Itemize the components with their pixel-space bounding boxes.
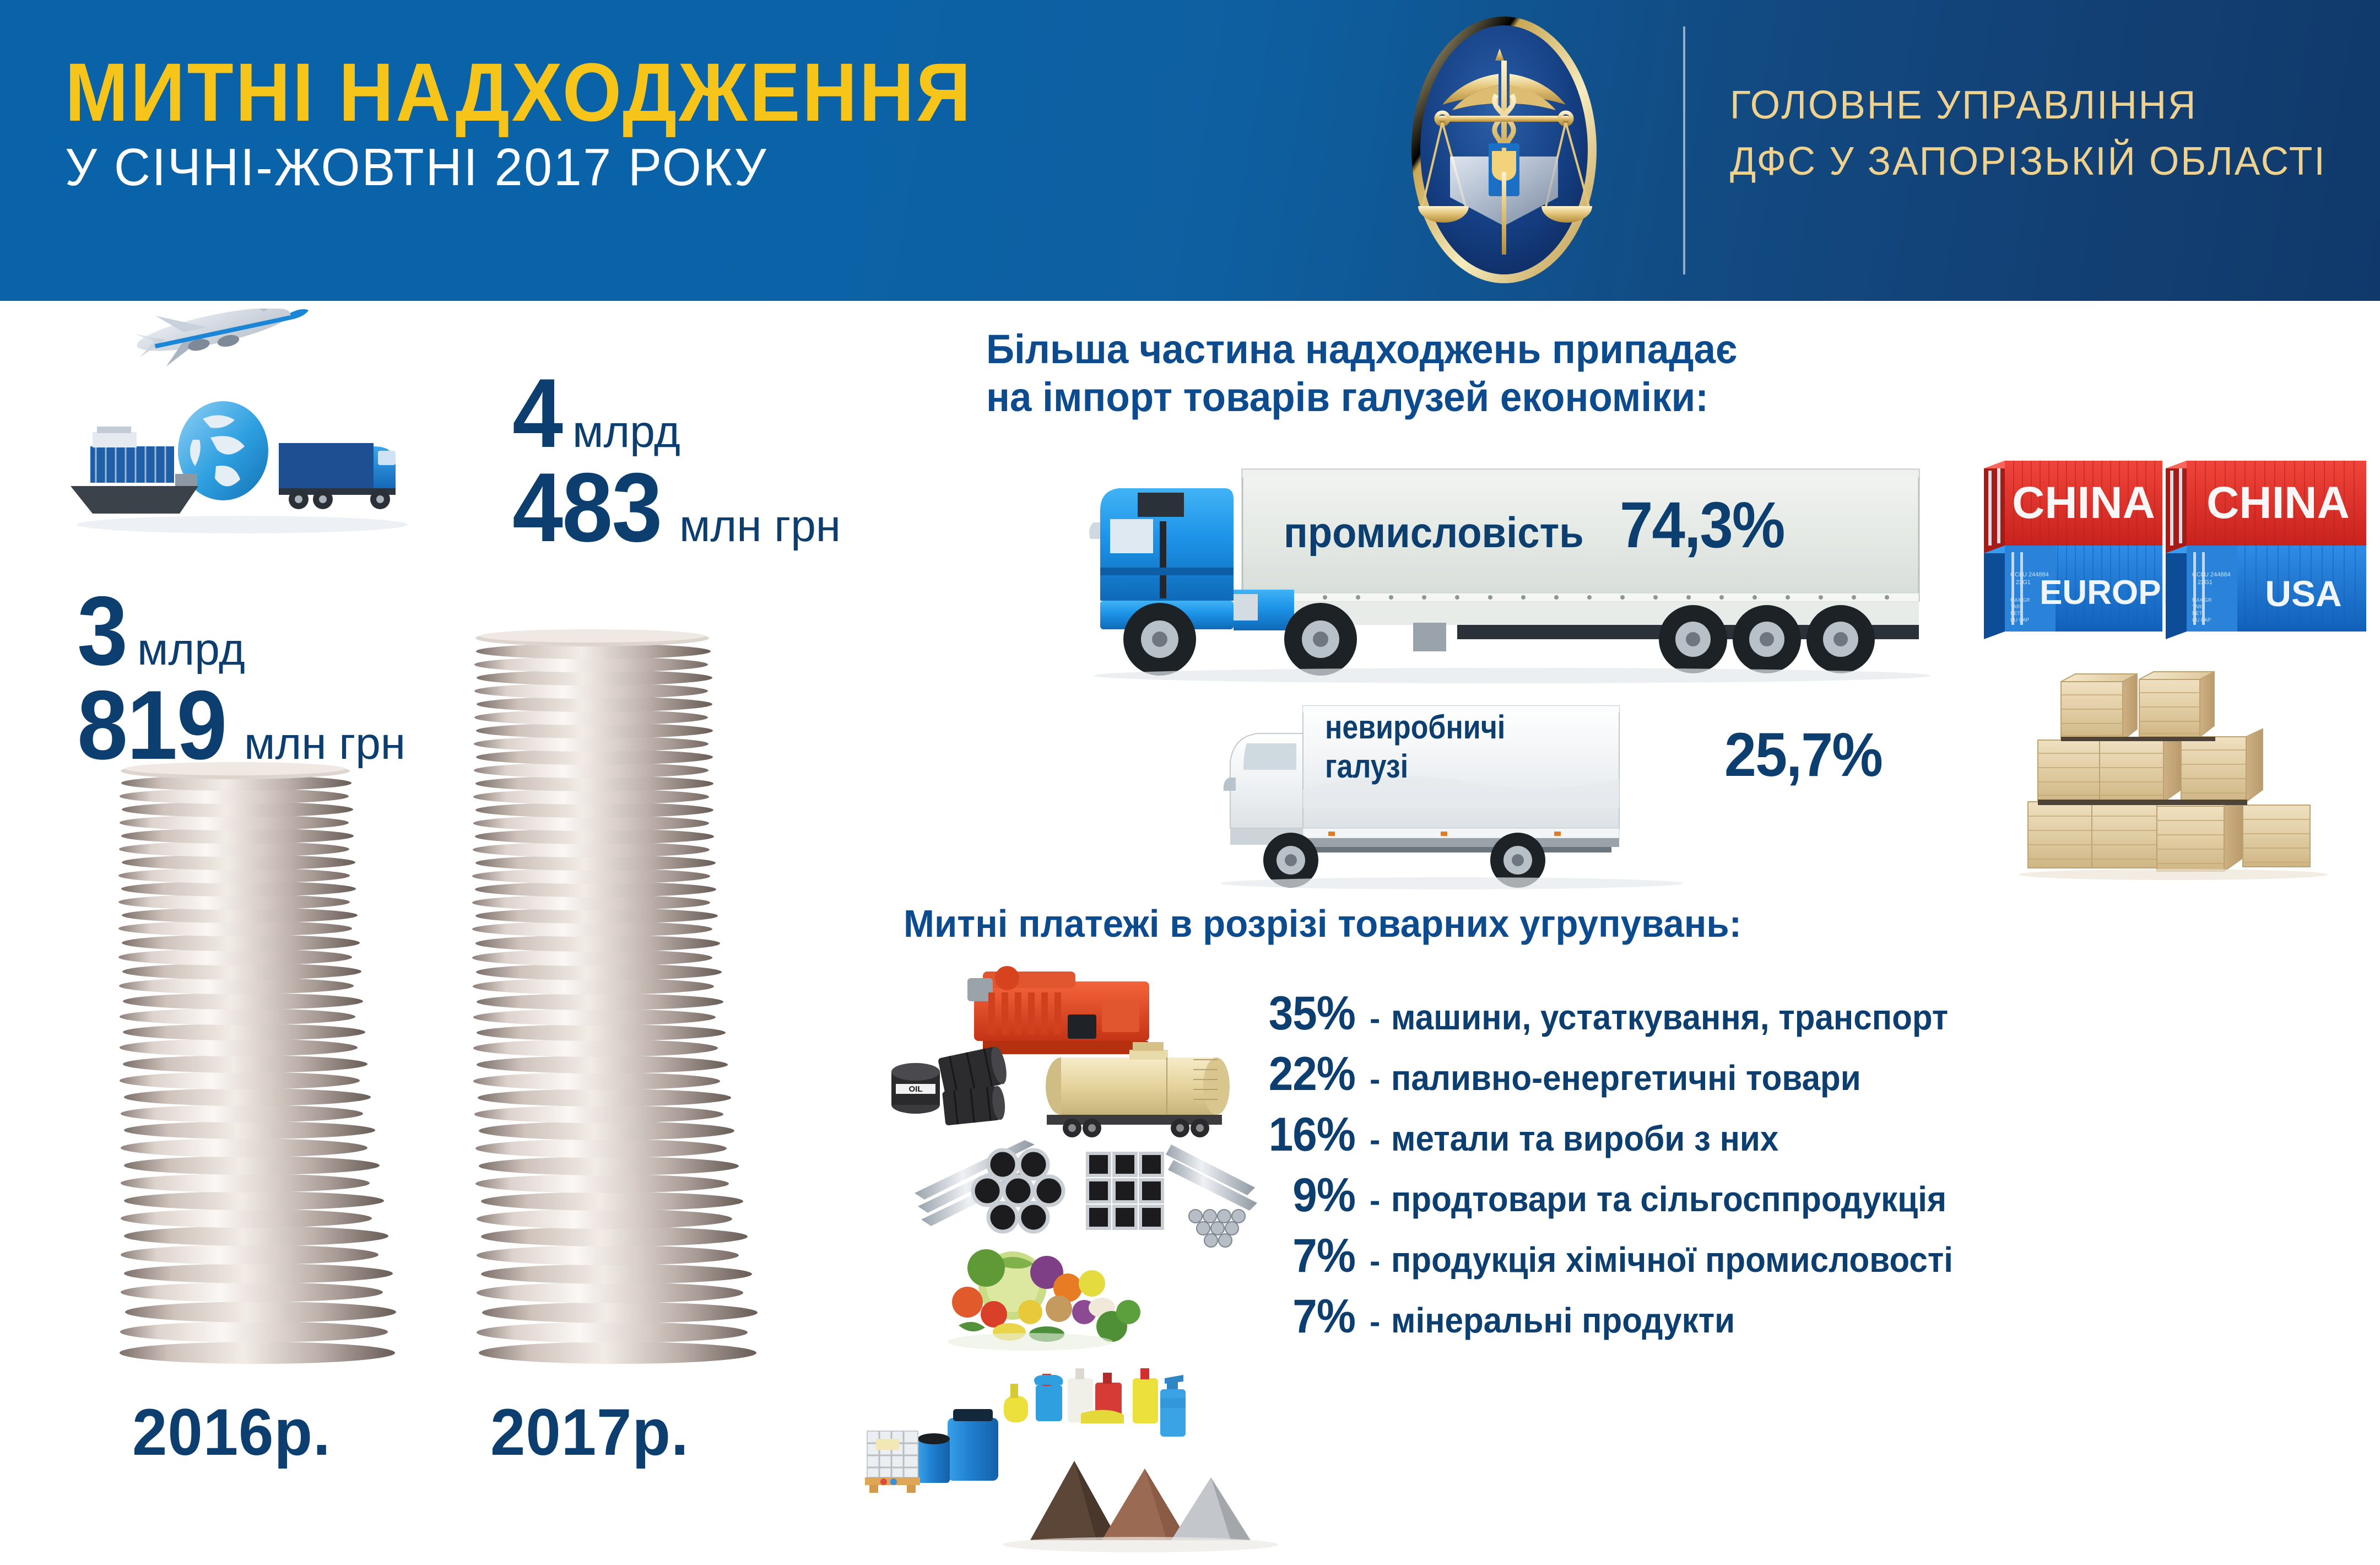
breakdown-dash: -: [1370, 1303, 1380, 1340]
nonproductive-sector-label: невиробничі галузі: [1325, 708, 1533, 786]
org-line-1: ГОЛОВНЕ УПРАВЛІННЯ: [1730, 77, 2327, 133]
svg-text:NET: NET: [2010, 611, 2021, 616]
breakdown-percent: 9%: [1258, 1168, 1355, 1223]
organization-name: ГОЛОВНЕ УПРАВЛІННЯ ДФС У ЗАПОРІЗЬКІЙ ОБЛ…: [1730, 77, 2345, 190]
revenue-2017-millions-unit: млн грн: [679, 505, 841, 548]
breakdown-dash: -: [1370, 1243, 1380, 1280]
industrial-sector-label: промисловість 74,3%: [1284, 488, 1798, 563]
goods-collage-illustration: OIL: [865, 962, 1311, 1562]
breakdown-dash: -: [1370, 1182, 1380, 1219]
wooden-crates-illustration: [2008, 670, 2355, 882]
svg-text:TARE: TARE: [2010, 604, 2023, 609]
svg-text:CHINA: CHINA: [2012, 478, 2155, 528]
revenue-value-2017: 4 млрд 483 млн грн: [512, 366, 841, 555]
breakdown-percent: 16%: [1258, 1108, 1355, 1162]
nonproductive-sector-value: 25,7%: [1724, 719, 1882, 790]
year-label-2016: 2016р.: [132, 1394, 331, 1470]
shipping-containers-illustration: CHINA CHINA CCLU 2448: [1981, 441, 2377, 639]
page-subtitle: У СІЧНІ-ЖОВТНІ 2017 РОКУ: [65, 141, 1002, 194]
svg-text:NET: NET: [2192, 611, 2203, 616]
revenue-2017-billions-unit: млрд: [572, 411, 680, 454]
breakdown-label: машини, устаткування, транспорт: [1391, 997, 1948, 1038]
revenue-value-2016: 3 млрд 819 млн грн: [77, 584, 405, 773]
svg-text:CHINA: CHINA: [2206, 478, 2350, 528]
svg-text:MAX.GR: MAX.GR: [2010, 597, 2030, 603]
breakdown-dash: -: [1370, 1000, 1380, 1037]
revenue-2016-billions: 3: [77, 584, 127, 678]
svg-text:OIL: OIL: [909, 1084, 923, 1094]
breakdown-list: 35% - машини, устаткування, транспорт 22…: [1251, 986, 1989, 1350]
coin-stack-2017: [460, 617, 769, 1367]
breakdown-row: 35% - машини, устаткування, транспорт: [1251, 986, 1989, 1047]
svg-text:MAX.GR: MAX.GR: [2192, 597, 2212, 603]
svg-text:22G1: 22G1: [2016, 579, 2031, 586]
page-header: МИТНІ НАДХОДЖЕННЯ У СІЧНІ-ЖОВТНІ 2017 РО…: [0, 0, 2380, 301]
breakdown-label: метали та вироби з них: [1391, 1118, 1778, 1159]
breakdown-heading: Митні платежі в розрізі товарних угрупув…: [904, 901, 1741, 947]
svg-text:22G1: 22G1: [2198, 579, 2213, 586]
sectors-heading: Більша частина надходжень припадає на ім…: [986, 325, 1768, 422]
breakdown-row: 7% - мінеральні продукти: [1251, 1289, 1989, 1350]
breakdown-dash: -: [1370, 1061, 1380, 1098]
svg-text:CU CAP: CU CAP: [2010, 617, 2029, 623]
coin-stack-2016: [107, 752, 416, 1367]
breakdown-dash: -: [1370, 1121, 1380, 1158]
breakdown-row: 22% - паливно-енергетичні товари: [1251, 1047, 1989, 1108]
svg-text:USA: USA: [2265, 573, 2341, 614]
header-title-block: МИТНІ НАДХОДЖЕННЯ У СІЧНІ-ЖОВТНІ 2017 РО…: [65, 51, 1052, 194]
breakdown-percent: 7%: [1258, 1229, 1355, 1283]
header-divider: [1683, 26, 1685, 274]
svg-text:CCLU 244884: CCLU 244884: [2192, 571, 2231, 578]
nonproductive-label-line-1: невиробничі: [1325, 708, 1505, 747]
breakdown-percent: 35%: [1258, 986, 1355, 1041]
sectors-heading-line-2: на імпорт товарів галузей економіки:: [986, 373, 1737, 421]
dfs-emblem-icon: [1361, 12, 1647, 288]
logistics-illustration: [61, 309, 424, 540]
sectors-heading-line-1: Більша частина надходжень припадає: [986, 325, 1737, 373]
breakdown-label: паливно-енергетичні товари: [1391, 1057, 1861, 1098]
revenue-2017-millions: 483: [512, 461, 662, 555]
svg-text:EUROPE: EUROPE: [2040, 574, 2184, 612]
breakdown-percent: 22%: [1258, 1047, 1355, 1102]
nonproductive-label-line-2: галузі: [1325, 747, 1505, 786]
svg-text:TARE: TARE: [2192, 604, 2205, 609]
revenue-2016-billions-unit: млрд: [137, 628, 245, 672]
industrial-sector-name: промисловість: [1284, 508, 1584, 558]
org-line-2: ДФС У ЗАПОРІЗЬКІЙ ОБЛАСТІ: [1730, 133, 2327, 190]
svg-text:CU CAP: CU CAP: [2192, 617, 2211, 623]
industrial-sector-value: 74,3%: [1620, 488, 1784, 563]
breakdown-row: 7% - продукція хімічної промисловості: [1251, 1229, 1989, 1289]
breakdown-percent: 7%: [1258, 1289, 1355, 1344]
revenue-2017-billions: 4: [512, 366, 562, 461]
year-label-2017: 2017р.: [490, 1394, 689, 1470]
breakdown-label: продтовари та сільгосппродукція: [1391, 1179, 1946, 1219]
breakdown-label: продукція хімічної промисловості: [1391, 1239, 1953, 1280]
page-title: МИТНІ НАДХОДЖЕННЯ: [65, 51, 973, 133]
breakdown-row: 16% - метали та вироби з них: [1251, 1108, 1989, 1168]
breakdown-label: мінеральні продукти: [1391, 1300, 1735, 1341]
breakdown-row: 9% - продтовари та сільгосппродукція: [1251, 1168, 1989, 1229]
